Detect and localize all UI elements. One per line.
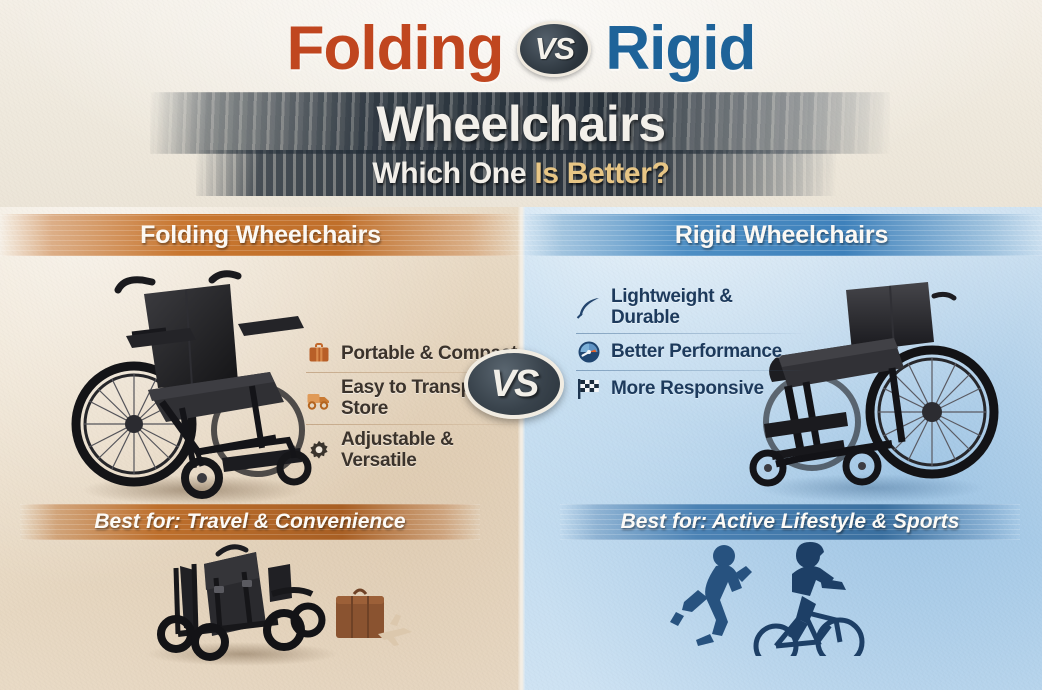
infographic-canvas: Folding VS Rigid Wheelchairs Which One I… bbox=[0, 0, 1042, 690]
left-best-for-banner: Best for: Travel & Convenience bbox=[20, 504, 480, 540]
right-feature-list: Lightweight & Durable Better Performance bbox=[576, 282, 806, 407]
title-vs-label: VS bbox=[535, 31, 574, 67]
center-vs-badge: VS bbox=[464, 349, 564, 419]
title-rigid: Rigid bbox=[605, 18, 755, 80]
header: Folding VS Rigid Wheelchairs Which One I… bbox=[0, 0, 1042, 207]
right-best-for-banner: Best for: Active Lifestyle & Sports bbox=[560, 504, 1020, 540]
subtitle: Which One Is Better? bbox=[0, 157, 1042, 191]
title-folding: Folding bbox=[287, 18, 504, 80]
feature-label: Lightweight & Durable bbox=[611, 287, 806, 328]
folded-wheelchair-luggage-image bbox=[132, 538, 414, 670]
title-row: Folding VS Rigid bbox=[0, 18, 1042, 80]
checkered-flag-icon bbox=[576, 376, 602, 402]
gear-icon bbox=[306, 438, 332, 464]
center-vs-label: VS bbox=[491, 363, 538, 406]
right-section-title: Rigid Wheelchairs bbox=[675, 221, 888, 250]
suitcase-icon bbox=[306, 341, 332, 367]
right-best-for-label: Best for: Active Lifestyle & Sports bbox=[621, 510, 960, 534]
folding-wheelchair-image bbox=[62, 262, 324, 507]
subtitle-gold-part: Is Better? bbox=[534, 157, 669, 190]
right-section-banner: Rigid Wheelchairs bbox=[521, 214, 1042, 256]
subtitle-white-part: Which One bbox=[372, 157, 526, 190]
feature-item: Adjustable & Versatile bbox=[306, 425, 518, 476]
cyclist-silhouette bbox=[756, 542, 862, 656]
left-section-banner: Folding Wheelchairs bbox=[0, 214, 521, 256]
center-divider bbox=[518, 207, 525, 690]
runner-silhouette bbox=[670, 545, 752, 646]
title-wheelchairs: Wheelchairs bbox=[0, 95, 1042, 153]
left-section-title: Folding Wheelchairs bbox=[140, 221, 381, 250]
feature-item: Better Performance bbox=[576, 334, 806, 370]
feature-label: Better Performance bbox=[611, 342, 782, 363]
speedometer-icon bbox=[576, 339, 602, 365]
active-lifestyle-image bbox=[668, 534, 882, 656]
feature-item: Lightweight & Durable bbox=[576, 282, 806, 333]
feature-label: Adjustable & Versatile bbox=[341, 430, 518, 471]
feather-icon bbox=[576, 295, 602, 321]
feature-item: More Responsive bbox=[576, 371, 806, 407]
feature-label: More Responsive bbox=[611, 379, 764, 400]
title-vs-badge: VS bbox=[517, 21, 591, 77]
truck-icon bbox=[306, 386, 332, 412]
left-best-for-label: Best for: Travel & Convenience bbox=[94, 510, 405, 534]
